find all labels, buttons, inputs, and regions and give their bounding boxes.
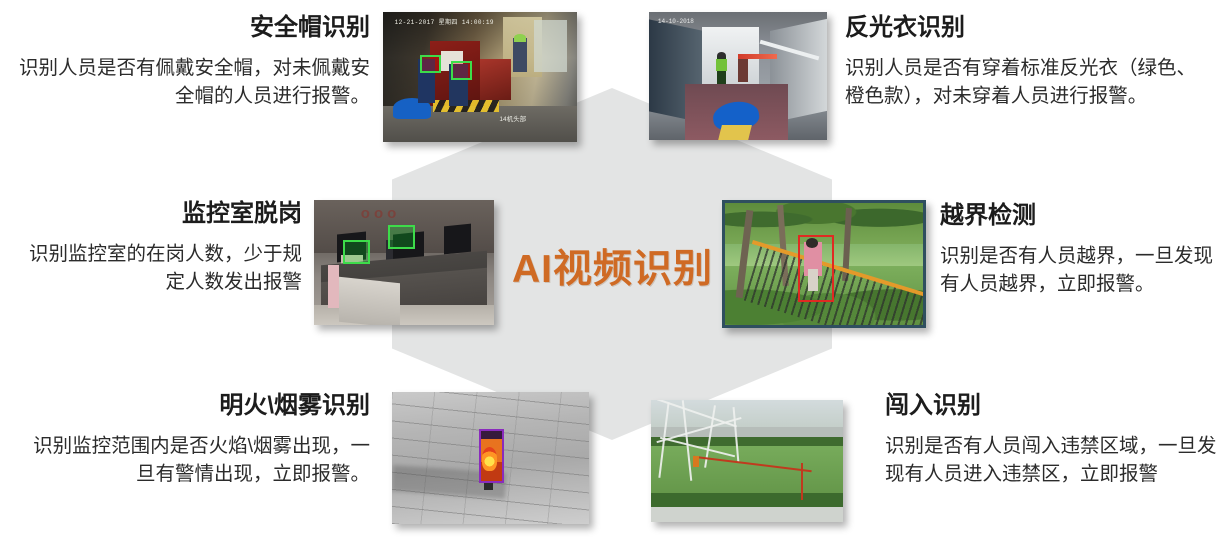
feature-title-vest: 反光衣识别 — [845, 14, 1215, 42]
feature-description-helmet: 识别人员是否有佩戴安全帽，对未佩戴安全帽的人员进行报警。 — [18, 54, 370, 112]
photo-timestamp: 12-21-2017 星期四 14:00:19 — [395, 17, 494, 26]
infographic-canvas: AI视频识别 12-21-2017 星期四 14:00:19 14机头部 14-… — [0, 0, 1225, 547]
feature-description-fire: 识别监控范围内是否火焰\烟雾出现，一旦有警情出现，立即报警。 — [18, 432, 370, 490]
detection-box-person-1 — [343, 240, 370, 264]
detection-box-intruder — [798, 235, 834, 302]
feature-block-crossline: 越界检测 识别是否有人员越界，一旦发现有人员越界，立即报警。 — [940, 202, 1222, 299]
photo-vest-detection: 14-10-2018 — [649, 12, 827, 140]
photo-fire-smoke — [392, 392, 589, 524]
feature-description-crossline: 识别是否有人员越界，一旦发现有人员越界，立即报警。 — [940, 242, 1222, 300]
feature-title-duty: 监控室脱岗 — [10, 200, 302, 228]
feature-block-intrusion: 闯入识别 识别是否有人员闯入违禁区域，一旦发现有人员进入违禁区，立即报警 — [885, 392, 1217, 489]
photo-intrusion-field — [651, 400, 843, 522]
photo-control-room: ооо — [314, 200, 494, 325]
detection-box-helmet-1 — [420, 55, 441, 73]
photo-line-crossing — [722, 200, 926, 328]
feature-description-intrusion: 识别是否有人员闯入违禁区域，一旦发现有人员进入违禁区，立即报警 — [885, 432, 1217, 490]
feature-title-intrusion: 闯入识别 — [885, 392, 1217, 420]
photo-helmet-detection: 12-21-2017 星期四 14:00:19 14机头部 — [383, 12, 577, 142]
feature-title-helmet: 安全帽识别 — [18, 14, 370, 42]
feature-block-vest: 反光衣识别 识别人员是否有穿着标准反光衣（绿色、橙色款），对未穿着人员进行报警。 — [845, 14, 1215, 111]
feature-block-helmet: 安全帽识别 识别人员是否有佩戴安全帽，对未佩戴安全帽的人员进行报警。 — [18, 14, 370, 111]
feature-block-fire: 明火\烟雾识别 识别监控范围内是否火焰\烟雾出现，一旦有警情出现，立即报警。 — [18, 392, 370, 489]
detection-box-person-2 — [388, 225, 415, 249]
feature-title-fire: 明火\烟雾识别 — [18, 392, 370, 420]
feature-title-crossline: 越界检测 — [940, 202, 1222, 230]
feature-description-duty: 识别监控室的在岗人数，少于规定人数发出报警 — [10, 240, 302, 298]
feature-description-vest: 识别人员是否有穿着标准反光衣（绿色、橙色款），对未穿着人员进行报警。 — [845, 54, 1215, 112]
detection-box-helmet-2 — [451, 61, 472, 79]
photo-timestamp: 14-10-2018 — [658, 18, 694, 25]
photo-watermark: 14机头部 — [499, 113, 526, 123]
feature-block-duty: 监控室脱岗 识别监控室的在岗人数，少于规定人数发出报警 — [10, 200, 302, 297]
